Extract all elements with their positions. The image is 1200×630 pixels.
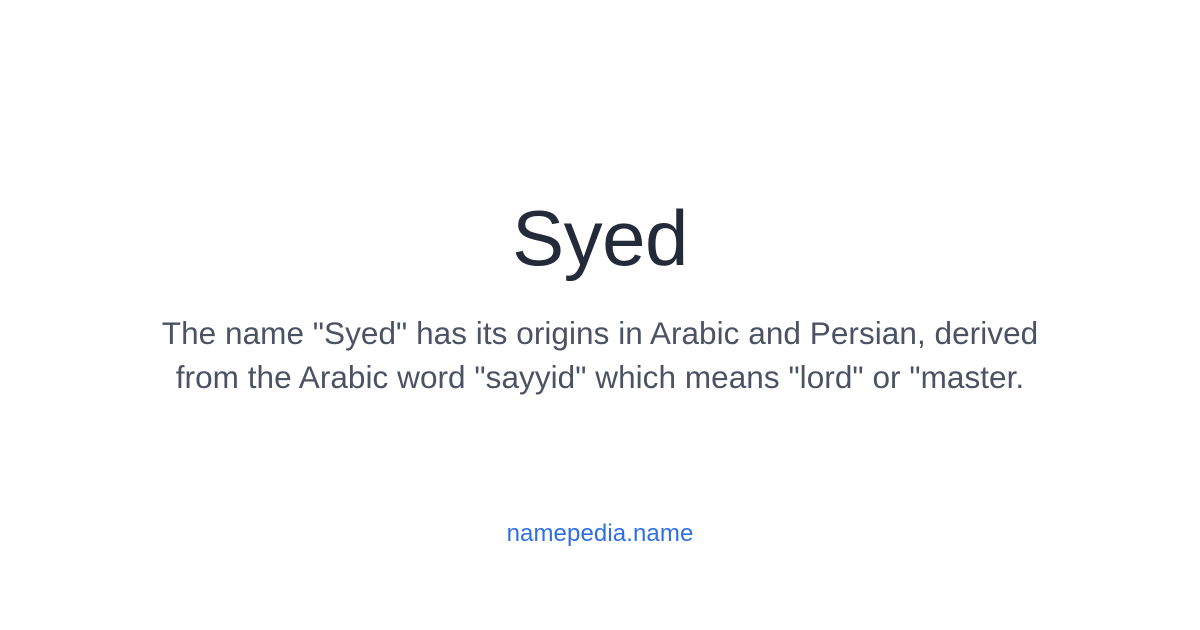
page-title: Syed [0,186,1200,290]
name-description: The name "Syed" has its origins in Arabi… [155,311,1045,399]
site-link[interactable]: namepedia.name [0,519,1200,549]
name-info-card: Syed The name "Syed" has its origins in … [0,0,1200,630]
